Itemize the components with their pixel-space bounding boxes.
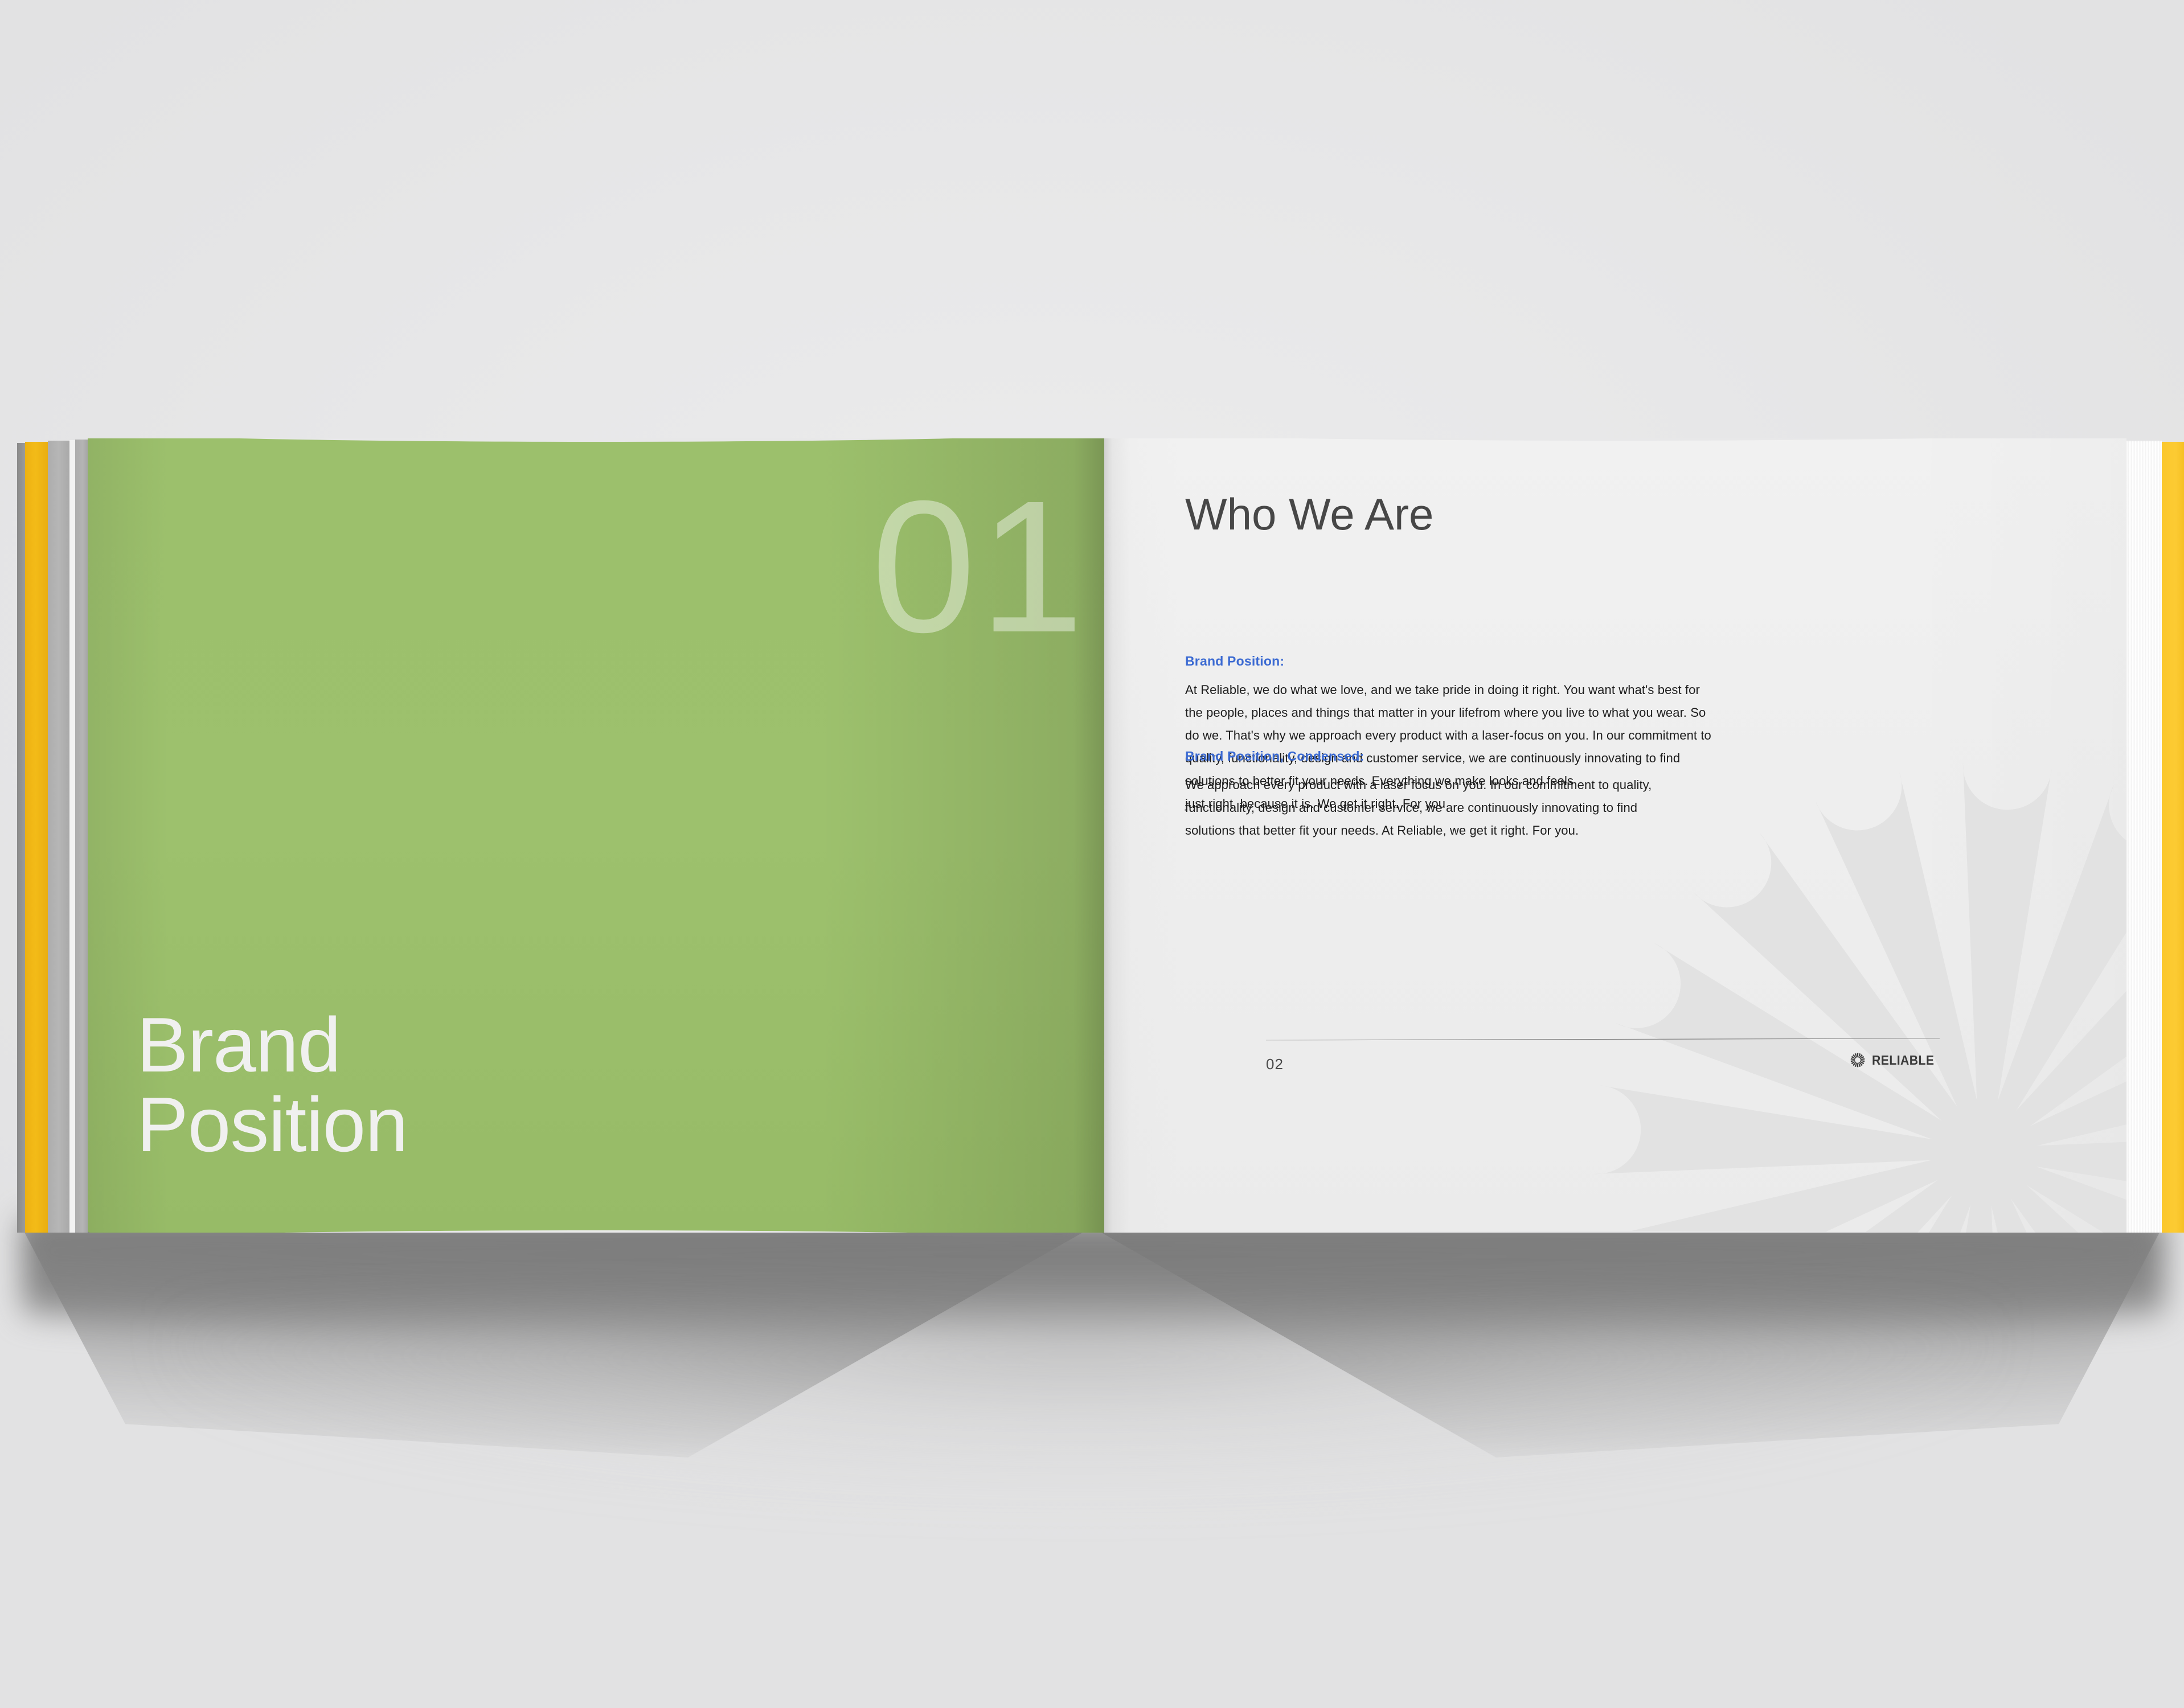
body-line: We approach every product with a laser f… [1185, 774, 2028, 796]
section-title-line-2: Position [137, 1085, 408, 1164]
open-book: 01 Brand Position Who We Are Brand Posit… [17, 438, 2167, 1233]
body-line: solutions that better fit your needs. At… [1185, 819, 2028, 842]
page-number: 02 [1266, 1056, 1284, 1073]
section-number: 01 [871, 473, 1087, 660]
book-edge-gray-stripe-outer [48, 441, 69, 1233]
logo-ray [1857, 1053, 1859, 1058]
sunburst-icon [1850, 1052, 1866, 1068]
book-edge-dark-stripe [17, 443, 25, 1233]
footer-logo: RELIABLE [1850, 1052, 1940, 1068]
section-label-brand-position-condensed: Brand Position, Condensed: [1185, 749, 2028, 764]
footer-divider [1266, 1038, 1940, 1040]
book-edge-white-stripe [69, 440, 75, 1233]
section-body-brand-position-condensed: We approach every product with a laser f… [1185, 774, 2028, 842]
section-title-line-1: Brand [137, 1005, 408, 1085]
section-title: Brand Position [137, 1005, 408, 1164]
section-label-brand-position: Brand Position: [1185, 654, 2028, 669]
book-edge-gray-stripe-inner [75, 440, 88, 1233]
body-line: At Reliable, we do what we love, and we … [1185, 679, 2028, 701]
logo-ray [1857, 1063, 1859, 1067]
right-page-content: Who We Are Brand Position: At Reliable, … [1185, 438, 2028, 1233]
left-page-green: 01 Brand Position [88, 438, 1104, 1233]
book-edge-gold-stripe [25, 442, 48, 1233]
footer-wordmark: RELIABLE [1872, 1053, 1934, 1068]
body-line: functionality, design and customer servi… [1185, 796, 2028, 819]
body-line: the people, places and things that matte… [1185, 701, 2028, 724]
book-right-page-block [2126, 441, 2162, 1233]
book-back-cover-gold [2162, 442, 2184, 1233]
body-line: do we. That's why we approach every prod… [1185, 724, 2028, 747]
page-title: Who We Are [1185, 488, 1433, 540]
section-brand-position-condensed: Brand Position, Condensed: We approach e… [1185, 749, 2028, 842]
right-page-white: Who We Are Brand Position: At Reliable, … [1104, 438, 2126, 1233]
